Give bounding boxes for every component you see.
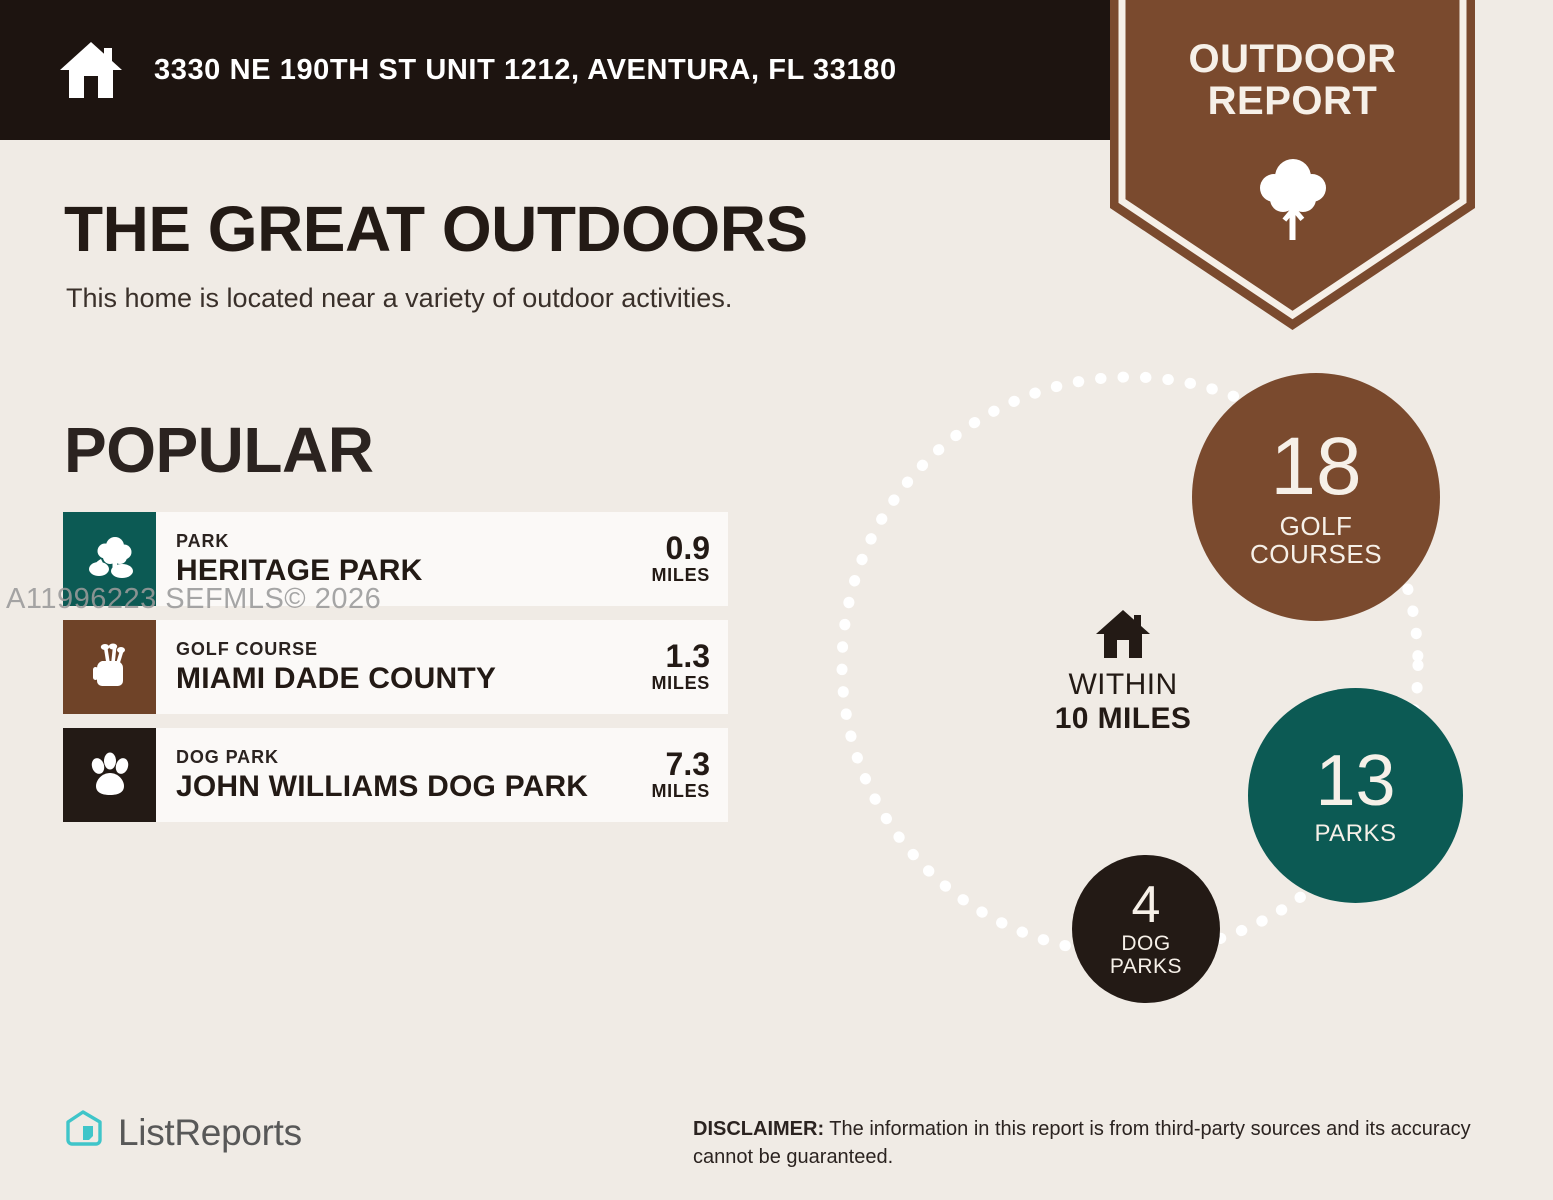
popular-list: PARK HERITAGE PARK 0.9 MILES [63,512,728,836]
list-item-category: GOLF COURSE [176,639,496,660]
disclaimer: DISCLAIMER: The information in this repo… [693,1115,1493,1172]
list-item[interactable]: GOLF COURSE MIAMI DADE COUNTY 1.3 MILES [63,620,728,714]
stat-dog-parks: 4 DOG PARKS [1072,855,1220,1003]
within-line-1: WITHIN [1038,668,1208,702]
badge-title: OUTDOOR REPORT [1110,38,1475,123]
stat-label: DOG PARKS [1110,933,1182,978]
distance-unit: MILES [651,781,710,802]
list-item-category: DOG PARK [176,747,588,768]
stat-label: PARKS [1314,821,1396,847]
home-icon [58,40,124,100]
stat-golf-courses: 18 GOLF COURSES [1192,373,1440,621]
tree-icon [63,512,156,606]
list-item[interactable]: DOG PARK JOHN WILLIAMS DOG PARK 7.3 MILE… [63,728,728,822]
header-bar: 3330 NE 190TH ST UNIT 1212, AVENTURA, FL… [0,0,1110,140]
list-item-distance: 1.3 MILES [651,640,714,694]
golf-bag-icon [63,620,156,714]
list-item[interactable]: PARK HERITAGE PARK 0.9 MILES [63,512,728,606]
stat-label: GOLF COURSES [1250,512,1382,568]
distance-unit: MILES [651,673,710,694]
paw-icon [63,728,156,822]
stat-label-line-1: GOLF [1280,511,1353,541]
list-item-distance: 0.9 MILES [651,532,714,586]
list-item-name: HERITAGE PARK [176,554,423,587]
list-item-category: PARK [176,531,423,552]
stat-label-line-2: COURSES [1250,539,1382,569]
stat-parks: 13 PARKS [1248,688,1463,903]
badge-line-1: OUTDOOR [1189,37,1397,81]
stat-value: 18 [1270,426,1361,508]
list-item-name: JOHN WILLIAMS DOG PARK [176,770,588,803]
within-radius-label: WITHIN 10 MILES [1038,608,1208,735]
page-title: THE GREAT OUTDOORS [64,192,808,266]
stat-value: 4 [1132,879,1161,931]
outdoor-report-badge: OUTDOOR REPORT [1110,0,1475,330]
listreports-house-icon [62,1108,118,1157]
distance-unit: MILES [651,565,710,586]
listreports-logo[interactable]: ListReports [62,1108,302,1157]
distance-value: 1.3 [651,640,710,673]
home-icon [1094,608,1152,660]
distance-value: 0.9 [651,532,710,565]
list-item-name: MIAMI DADE COUNTY [176,662,496,695]
property-address: 3330 NE 190TH ST UNIT 1212, AVENTURA, FL… [154,54,897,87]
stat-value: 13 [1315,745,1395,817]
tree-icon [1255,155,1331,241]
stat-label-line-1: DOG [1121,932,1170,955]
popular-heading: POPULAR [64,413,373,487]
badge-line-2: REPORT [1110,80,1475,122]
distance-value: 7.3 [651,748,710,781]
list-item-distance: 7.3 MILES [651,748,714,802]
page-subtitle: This home is located near a variety of o… [66,283,732,314]
stat-label-line-2: PARKS [1110,955,1182,978]
disclaimer-label: DISCLAIMER: [693,1118,824,1140]
listreports-wordmark: ListReports [118,1112,302,1154]
within-line-2: 10 MILES [1038,702,1208,736]
